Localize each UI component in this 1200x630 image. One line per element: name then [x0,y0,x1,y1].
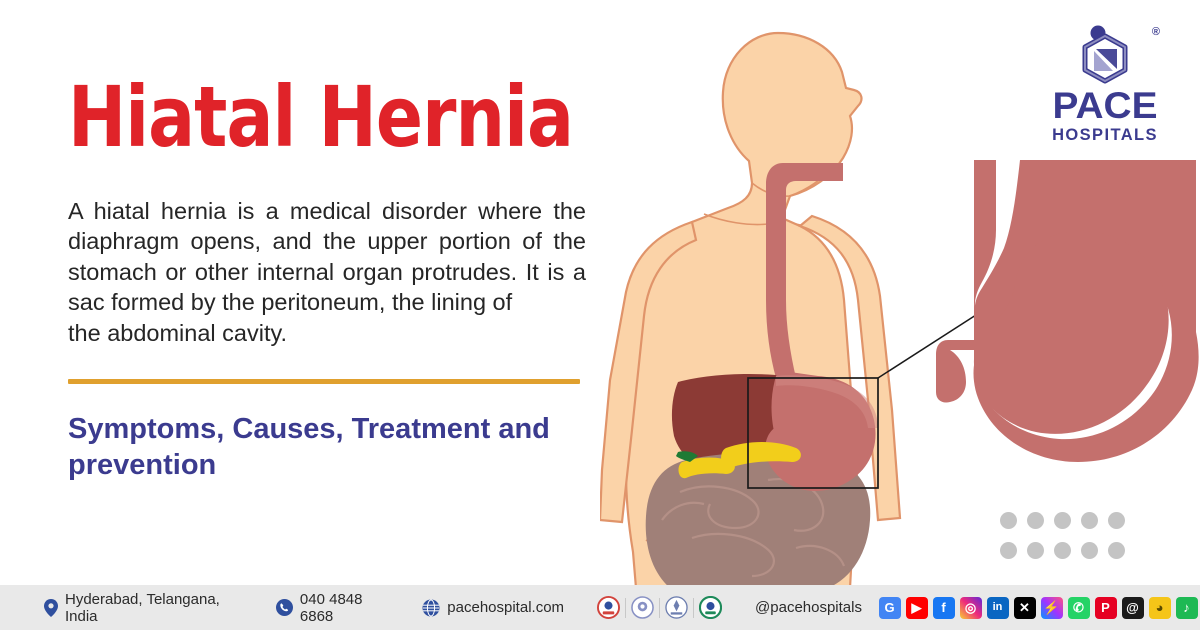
dot [1081,542,1098,559]
footer-phone[interactable]: 040 4848 6868 [276,591,390,625]
footer-location: Hyderabad, Telangana, India [44,591,240,625]
whatsapp-icon[interactable]: ✆ [1068,597,1090,619]
accreditation-seal-nabl [631,596,654,619]
accreditation-seal-nabh [597,596,620,619]
dot [1081,512,1098,529]
anatomy-illustration [600,0,1200,588]
youtube-icon[interactable]: ▶ [906,597,928,619]
accreditation-seal-iso [699,596,722,619]
text-content-column: Hiatal Hernia A hiatal hernia is a medic… [68,78,588,483]
location-pin-icon [44,599,58,617]
threads-icon[interactable]: @ [1122,597,1144,619]
subtitle: Symptoms, Causes, Treatment and preventi… [68,411,588,484]
dot [1108,542,1125,559]
phone-icon [276,599,293,616]
dot [1054,512,1071,529]
footer-phone-text: 040 4848 6868 [300,591,390,625]
dot [1054,542,1071,559]
decorative-dot-grid [1000,512,1135,572]
dot [1000,542,1017,559]
dot [1027,542,1044,559]
pinterest-icon[interactable]: P [1095,597,1117,619]
spotify-icon[interactable]: ♪ [1176,597,1198,619]
description-text: A hiatal hernia is a medical disorder wh… [68,198,586,316]
footer-bar: Hyderabad, Telangana, India 040 4848 686… [0,585,1200,630]
dot [1108,512,1125,529]
badge-divider [693,598,694,618]
x-twitter-icon[interactable]: ✕ [1014,597,1036,619]
badge-divider [659,598,660,618]
magnified-stomach [934,152,1199,462]
dot [1027,512,1044,529]
koo-icon[interactable]: ◕ [1149,597,1171,619]
dot [1000,512,1017,529]
page-title: Hiatal Hernia [68,78,546,158]
accreditation-seal-jci [665,596,688,619]
social-handle: @pacehospitals [755,599,862,616]
orange-divider [68,379,580,384]
footer-website[interactable]: pacehospital.com [422,599,564,617]
messenger-icon[interactable]: ⚡ [1041,597,1063,619]
social-media-icons: G ▶ f ◎ in ✕ ⚡ ✆ P @ ◕ ♪ [876,597,1200,619]
description-last-line: the abdominal cavity. [68,318,586,349]
badge-divider [625,598,626,618]
stomach-shape [765,371,878,491]
description-paragraph: A hiatal hernia is a medical disorder wh… [68,196,586,349]
google-business-icon[interactable]: G [879,597,901,619]
instagram-icon[interactable]: ◎ [960,597,982,619]
linkedin-icon[interactable]: in [987,597,1009,619]
accreditation-badges [594,596,725,619]
globe-icon [422,599,440,617]
footer-website-text: pacehospital.com [447,599,564,616]
footer-location-text: Hyderabad, Telangana, India [65,591,240,625]
facebook-icon[interactable]: f [933,597,955,619]
